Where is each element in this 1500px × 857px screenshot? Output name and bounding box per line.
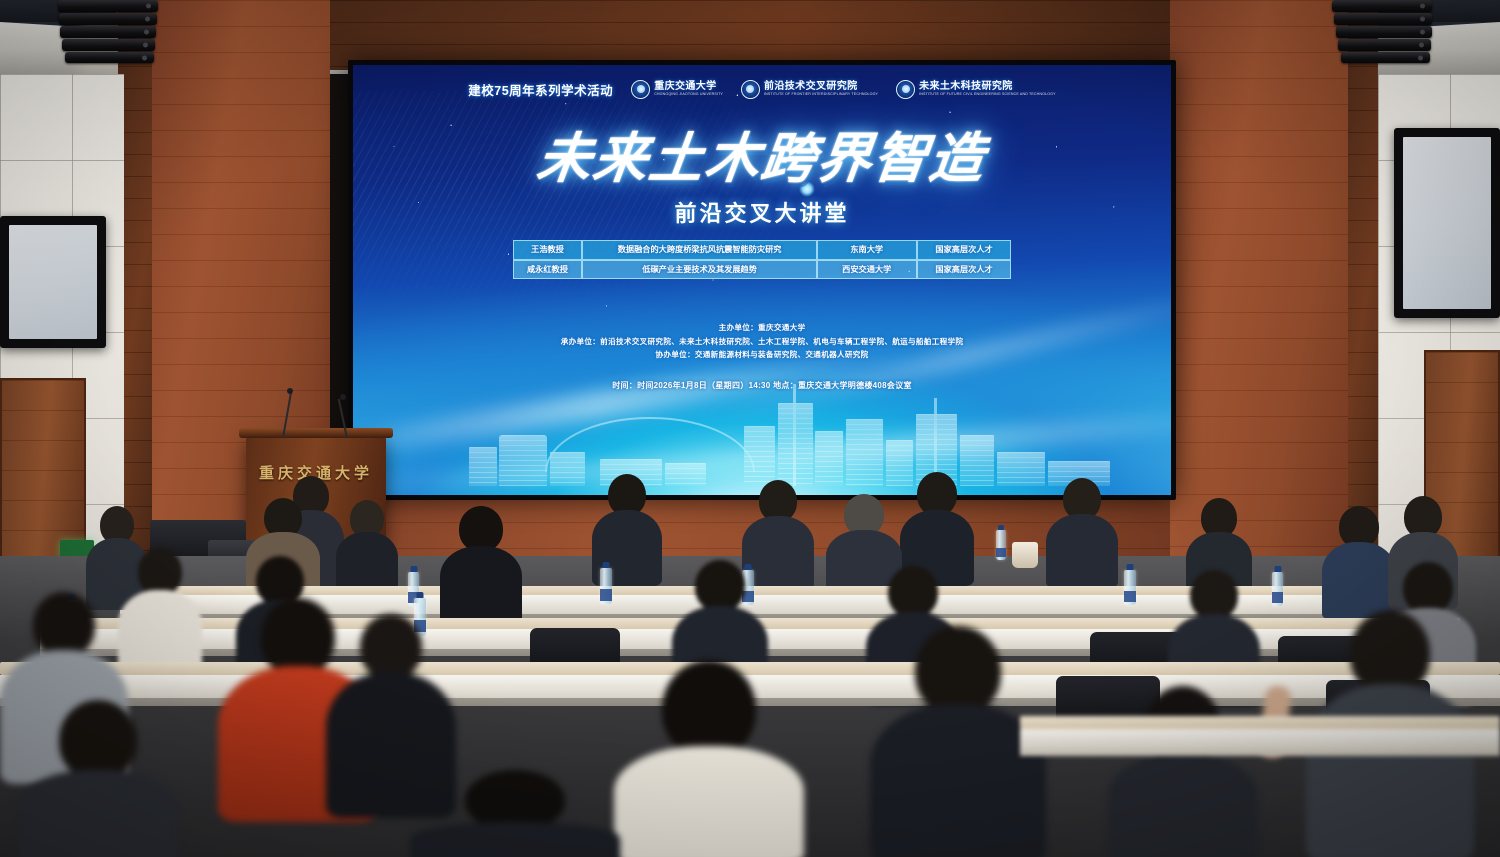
speaker-org: 西安交通大学 — [817, 260, 917, 279]
institute-seal-icon — [741, 80, 760, 99]
logo-future-civil-institute: 未来土木科技研究院 INSTITUTE OF FUTURE CIVIL ENGI… — [896, 80, 1056, 99]
wall-display-left[interactable] — [0, 216, 106, 348]
lecture-hall-photo: 建校75周年系列学术活动 重庆交通大学 CHONGQING JIAOTONG U… — [0, 0, 1500, 857]
led-screen: 建校75周年系列学术活动 重庆交通大学 CHONGQING JIAOTONG U… — [348, 60, 1176, 500]
audience-person — [1046, 478, 1118, 586]
university-seal-icon — [631, 80, 650, 99]
audience-person — [1108, 686, 1258, 857]
water-bottle — [1272, 572, 1283, 606]
poster-kicker: 建校75周年系列学术活动 — [468, 80, 613, 99]
logo-label-en: CHONGQING JIAOTONG UNIVERSITY — [654, 93, 723, 97]
organizer-undertaker: 承办单位：前沿技术交叉研究院、未来土木科技研究院、土木工程学院、机电与车辆工程学… — [353, 335, 1171, 348]
audience-person — [18, 700, 178, 857]
logo-label-cn: 重庆交通大学 — [654, 82, 723, 92]
speaker-org: 东南大学 — [817, 240, 917, 259]
paper-cup — [1012, 542, 1038, 568]
water-bottle — [600, 568, 612, 604]
speaker-array-right — [1332, 0, 1436, 62]
wall-wood-right — [1168, 0, 1348, 560]
institute-seal-icon — [896, 80, 915, 99]
wall-display-right[interactable] — [1394, 128, 1500, 318]
microphone-head-icon — [287, 388, 293, 394]
logo-frontier-tech-institute: 前沿技术交叉研究院 INSTITUTE OF FRONTIER INTERDIS… — [741, 80, 878, 99]
audience-person — [336, 500, 398, 596]
logo-label-en: INSTITUTE OF FRONTIER INTERDISCIPLINARY … — [764, 93, 878, 97]
wall-display-right-screen — [1403, 137, 1491, 309]
organizer-coorganizer: 协办单位：交通新能源材料与装备研究院、交通机器人研究院 — [353, 348, 1171, 361]
wall-display-left-screen — [9, 225, 97, 339]
speaker-honor: 国家高层次人才 — [917, 240, 1012, 259]
table-row: 王浩教授 数据融合的大跨度桥梁抗风抗震智能防灾研究 东南大学 国家高层次人才 — [513, 240, 1012, 259]
speaker-array-left — [58, 0, 162, 62]
podium-top — [239, 428, 393, 438]
water-bottle — [996, 530, 1006, 560]
water-bottle — [1124, 570, 1136, 605]
wall-wood-right-edge — [1348, 0, 1378, 560]
speaker-honor: 国家高层次人才 — [917, 260, 1012, 279]
poster-content: 建校75周年系列学术活动 重庆交通大学 CHONGQING JIAOTONG U… — [353, 65, 1171, 495]
organizer-lines: 主办单位：重庆交通大学 承办单位：前沿技术交叉研究院、未来土木科技研究院、土木工… — [353, 321, 1171, 361]
poster-header-row: 建校75周年系列学术活动 重庆交通大学 CHONGQING JIAOTONG U… — [353, 80, 1171, 99]
speaker-topic: 数据融合的大跨度桥梁抗风抗震智能防灾研究 — [582, 240, 817, 259]
event-time-location: 时间：时间2026年1月8日（星期四）14:30 地点：重庆交通大学明德楼408… — [353, 380, 1171, 391]
table-row: 咸永红教授 低碳产业主要技术及其发展趋势 西安交通大学 国家高层次人才 — [513, 260, 1012, 279]
audience-person — [118, 548, 202, 678]
logo-label-cn: 前沿技术交叉研究院 — [764, 82, 878, 92]
audience-person — [440, 506, 522, 622]
microphone-head-icon — [340, 394, 346, 400]
poster-subtitle: 前沿交叉大讲堂 — [353, 196, 1171, 228]
organizer-host: 主办单位：重庆交通大学 — [353, 321, 1171, 334]
speaker-topic: 低碳产业主要技术及其发展趋势 — [582, 260, 817, 279]
audience-person — [410, 770, 620, 857]
logo-chongqing-jiaotong-university: 重庆交通大学 CHONGQING JIAOTONG UNIVERSITY — [631, 80, 723, 99]
audience-person — [614, 660, 804, 857]
audience-desk-row — [1020, 716, 1500, 756]
speaker-schedule-table: 王浩教授 数据融合的大跨度桥梁抗风抗震智能防灾研究 东南大学 国家高层次人才 咸… — [513, 240, 1012, 278]
logo-label-cn: 未来土木科技研究院 — [919, 82, 1056, 92]
logo-label-en: INSTITUTE OF FUTURE CIVIL ENGINEERING SC… — [919, 93, 1056, 97]
led-screen-content: 建校75周年系列学术活动 重庆交通大学 CHONGQING JIAOTONG U… — [353, 65, 1171, 495]
poster-title: 未来土木跨界智造 — [353, 114, 1171, 193]
speaker-name: 王浩教授 — [513, 240, 583, 259]
speaker-name: 咸永红教授 — [513, 260, 583, 279]
